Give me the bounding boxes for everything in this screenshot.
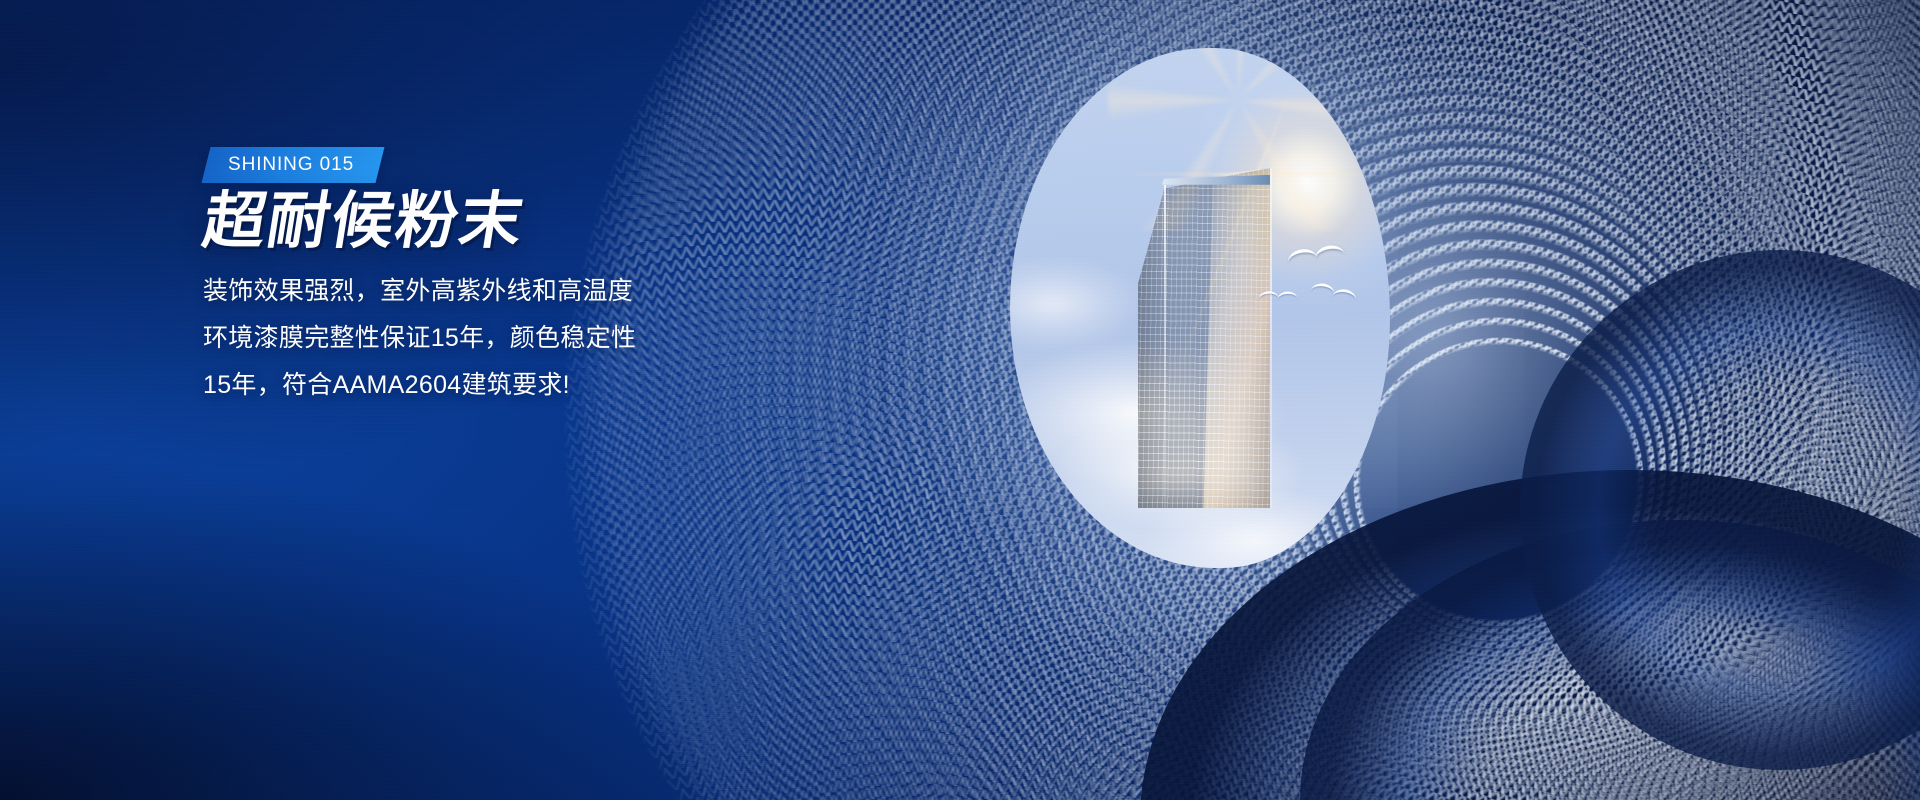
product-banner: SHINING 015 超耐候粉末 装饰效果强烈，室外高紫外线和高温度 环境漆膜… (0, 0, 1920, 800)
description-line: 15年，符合AAMA2604建筑要求! (203, 362, 713, 409)
description-line: 环境漆膜完整性保证15年，颜色稳定性 (203, 315, 713, 362)
product-code-label: SHINING 015 (228, 154, 354, 176)
tower-edge-highlight (1164, 185, 1166, 508)
skyscraper-icon (1138, 168, 1270, 508)
banner-content: SHINING 015 超耐候粉末 装饰效果强烈，室外高紫外线和高温度 环境漆膜… (0, 0, 760, 800)
tower-sunlit-face (1203, 168, 1272, 508)
product-code-badge: SHINING 015 (202, 147, 385, 183)
banner-description: 装饰效果强烈，室外高紫外线和高温度 环境漆膜完整性保证15年，颜色稳定性 15年… (203, 268, 713, 409)
cloud-shape (1010, 256, 1147, 352)
page-title: 超耐候粉末 (199, 188, 529, 253)
description-line: 装饰效果强烈，室外高紫外线和高温度 (203, 268, 713, 315)
